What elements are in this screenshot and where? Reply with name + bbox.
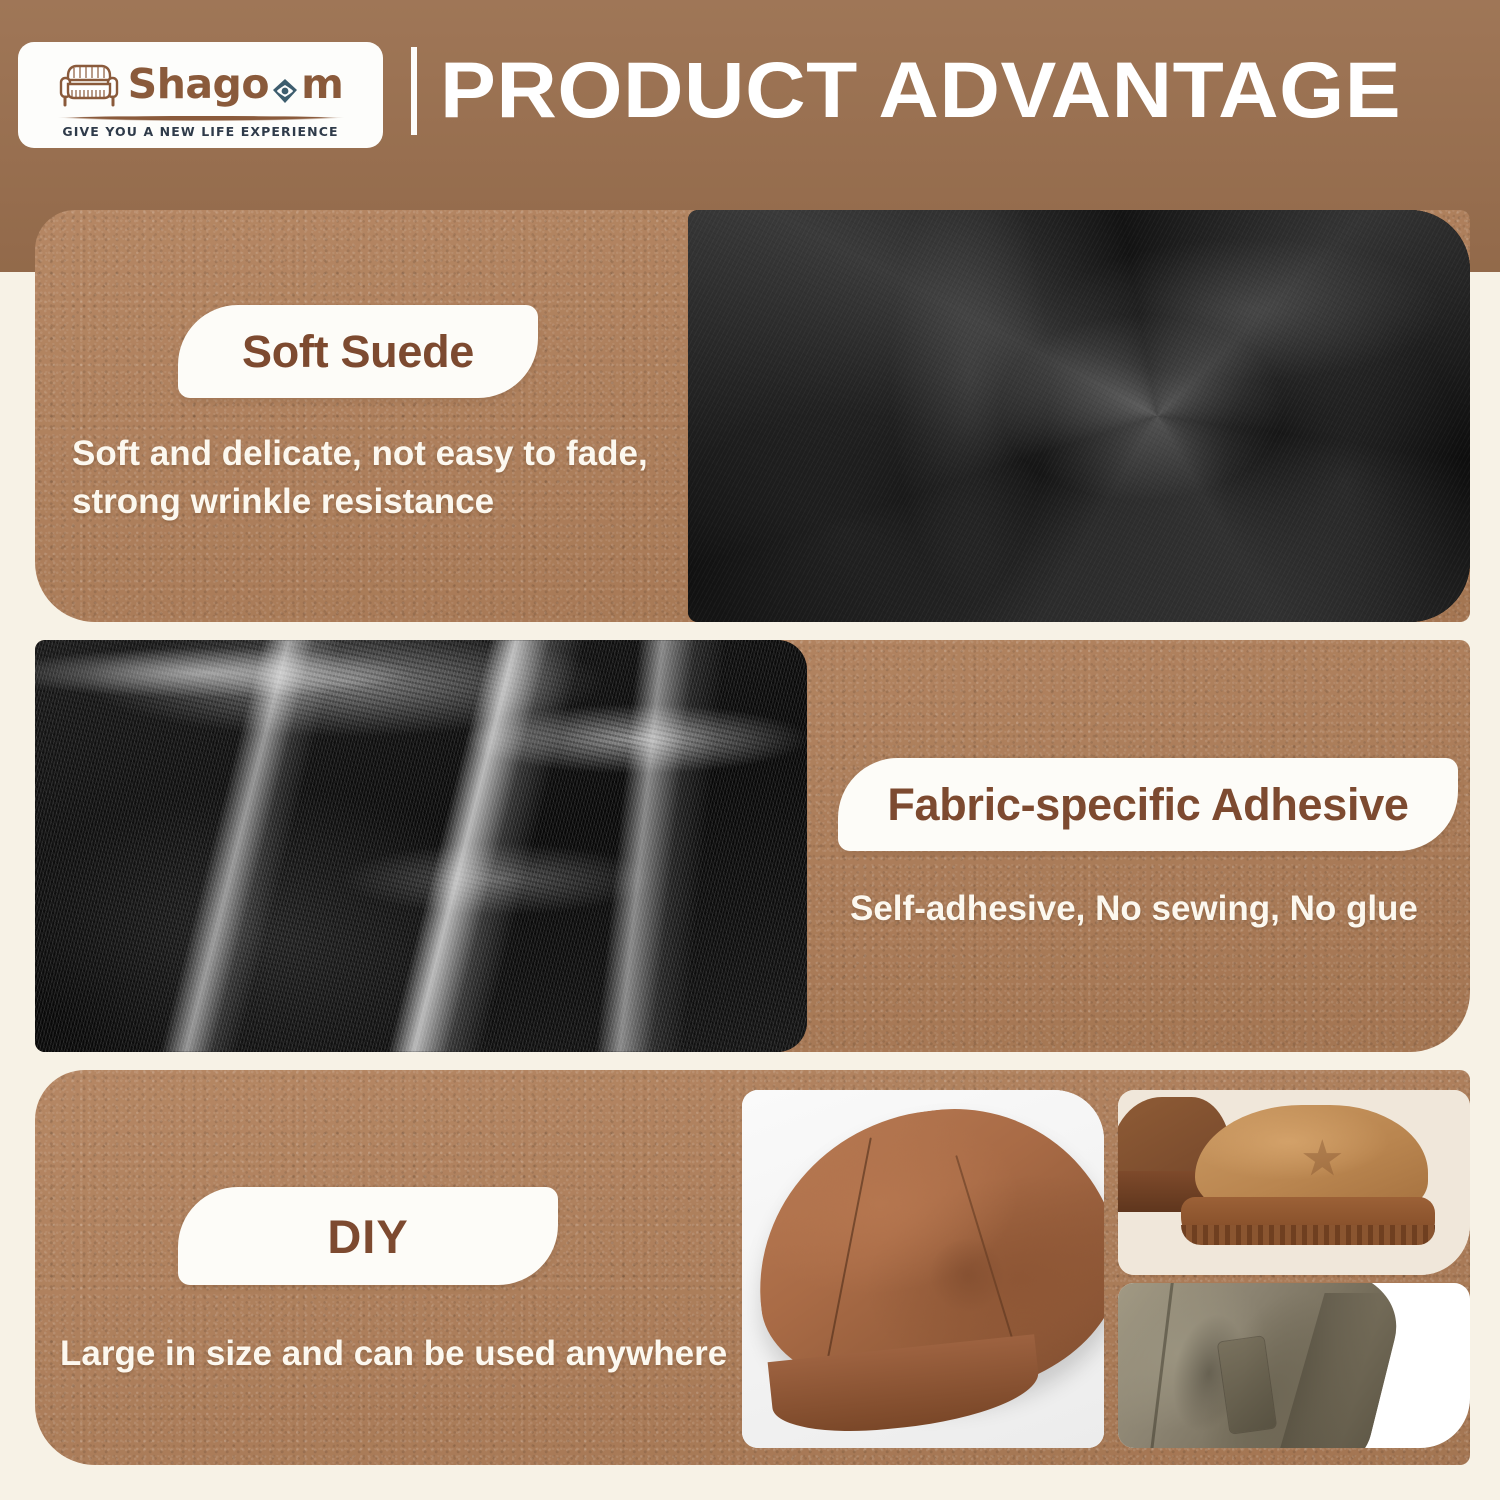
boot-platform-sole bbox=[1181, 1197, 1434, 1245]
header-divider bbox=[411, 47, 417, 135]
feature-description-diy: Large in size and can be used anywhere bbox=[60, 1330, 750, 1378]
cap-scene bbox=[742, 1090, 1104, 1448]
feature-label-soft-suede: Soft Suede bbox=[178, 305, 538, 398]
image-olive-suede-coat bbox=[1118, 1283, 1470, 1448]
coat-scene bbox=[1118, 1283, 1470, 1448]
image-black-velvet-fabric bbox=[35, 640, 807, 1052]
product-advantage-page: Shagom GIVE YOU A NEW LIFE EXPERIENCE PR… bbox=[0, 0, 1500, 1500]
boot-scene bbox=[1118, 1090, 1470, 1275]
description-line: Self-adhesive, No sewing, No glue bbox=[850, 885, 1450, 933]
feature-description-adhesive: Self-adhesive, No sewing, No glue bbox=[850, 885, 1450, 933]
logo-row: Shagom bbox=[58, 56, 344, 114]
logo-brand-label: Shagom bbox=[128, 64, 344, 105]
brand-logo: Shagom GIVE YOU A NEW LIFE EXPERIENCE bbox=[18, 42, 383, 148]
image-tan-suede-slipper bbox=[1118, 1090, 1470, 1275]
logo-divider bbox=[51, 116, 351, 121]
feature-label-diy: DIY bbox=[178, 1187, 558, 1285]
logo-brand-text: Shagom bbox=[128, 64, 344, 105]
feature-label-text: DIY bbox=[327, 1209, 408, 1264]
boot-star-emboss bbox=[1302, 1139, 1342, 1179]
image-brown-suede-flat-cap bbox=[742, 1090, 1104, 1448]
description-line: Large in size and can be used anywhere bbox=[60, 1330, 750, 1378]
cap-emboss-dot bbox=[925, 1235, 1011, 1316]
description-line: Soft and delicate, not easy to fade, bbox=[72, 430, 662, 478]
logo-tagline: GIVE YOU A NEW LIFE EXPERIENCE bbox=[62, 124, 338, 139]
image-black-crumpled-suede bbox=[688, 210, 1470, 622]
boot-upper bbox=[1195, 1105, 1427, 1212]
feature-label-text: Fabric-specific Adhesive bbox=[887, 779, 1408, 831]
page-title: PRODUCT ADVANTAGE bbox=[440, 37, 1500, 142]
velvet-fabric-texture bbox=[35, 640, 807, 1052]
suede-fabric-texture bbox=[688, 210, 1470, 622]
feature-description-soft-suede: Soft and delicate, not easy to fade, str… bbox=[72, 430, 662, 526]
sofa-icon bbox=[58, 60, 120, 110]
cap-seam bbox=[828, 1138, 873, 1358]
description-line: strong wrinkle resistance bbox=[72, 478, 662, 526]
feature-label-text: Soft Suede bbox=[242, 326, 474, 378]
feature-label-adhesive: Fabric-specific Adhesive bbox=[838, 758, 1458, 851]
eye-icon bbox=[270, 72, 300, 102]
